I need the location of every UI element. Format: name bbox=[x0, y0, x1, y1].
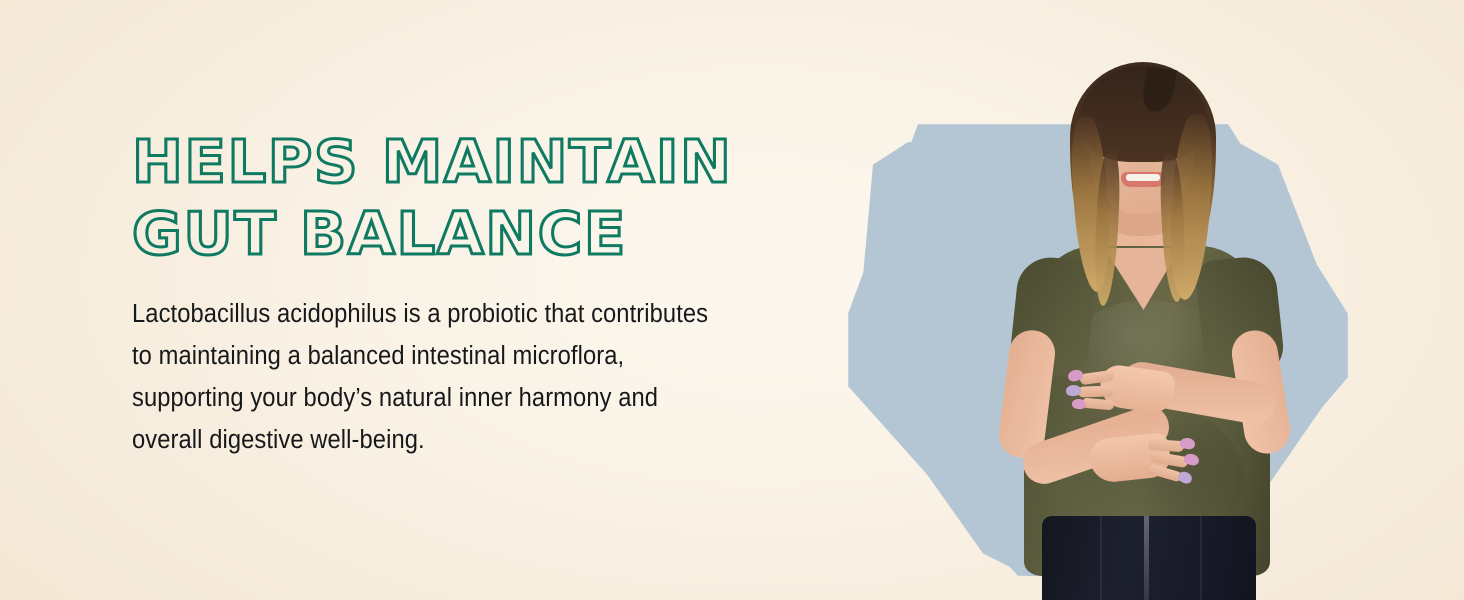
dark-jeans bbox=[1042, 516, 1256, 600]
teeth bbox=[1126, 174, 1160, 181]
body-description: Lactobacillus acidophilus is a probiotic… bbox=[132, 293, 727, 461]
jeans-seam-right bbox=[1200, 516, 1202, 600]
text-column: HELPS MAINTAIN GUT BALANCE bbox=[132, 126, 792, 270]
jeans-seam-left bbox=[1100, 516, 1102, 600]
jeans-fly bbox=[1144, 516, 1149, 600]
fingernail bbox=[1072, 398, 1087, 409]
product-benefit-banner: HELPS MAINTAIN GUT BALANCE Lactobacillus… bbox=[0, 0, 1464, 600]
hero-image bbox=[828, 0, 1464, 600]
woman-photo-figure bbox=[828, 0, 1464, 600]
finger bbox=[1078, 385, 1114, 397]
page-title: HELPS MAINTAIN GUT BALANCE bbox=[132, 126, 812, 270]
